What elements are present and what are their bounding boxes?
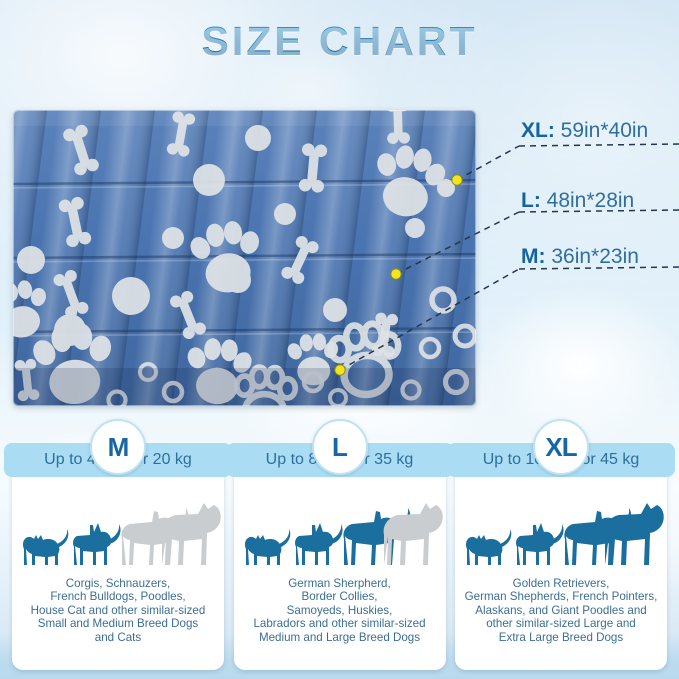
size-callouts: XL: 59in*40in L: 48in*28in M: 36in*23in	[0, 0, 679, 679]
size-label-m: M: 36in*23in	[521, 245, 639, 269]
size-label-xl-text: XL: 59in*40in	[521, 119, 648, 142]
callout-lines	[0, 0, 679, 679]
size-label-l: L: 48in*28in	[521, 189, 634, 213]
size-label-m-text: M: 36in*23in	[521, 245, 639, 268]
size-label-l-text: L: 48in*28in	[521, 189, 634, 212]
callout-dot-group	[335, 175, 462, 375]
size-label-xl: XL: 59in*40in	[521, 119, 648, 143]
